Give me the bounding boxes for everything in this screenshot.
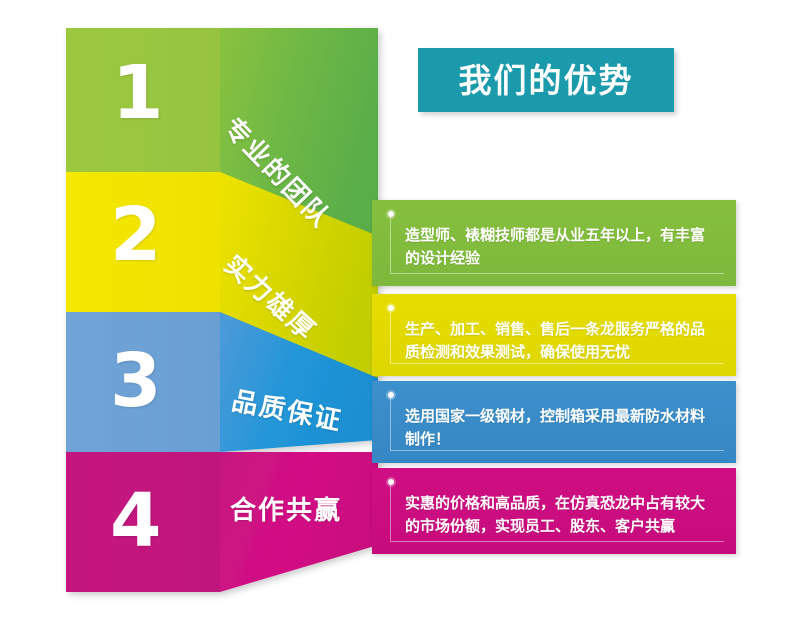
description-panel-4: 实惠的价格和高品质，在仿真恐龙中占有较大的市场份额，实现员工、股东、客户共赢: [372, 468, 736, 554]
description-text-1: 造型师、裱糊技师都是从业五年以上，有丰富的设计经验: [405, 224, 718, 271]
description-text-2: 生产、加工、销售、售后一条龙服务严格的品质检测和效果测试，确保使用无忧: [405, 318, 718, 365]
description-panel-2: 生产、加工、销售、售后一条龙服务严格的品质检测和效果测试，确保使用无忧: [372, 294, 736, 376]
infographic-canvas: 我们的优势: [0, 0, 800, 622]
panel-frame-4: 实惠的价格和高品质，在仿真恐龙中占有较大的市场份额，实现员工、股东、客户共赢: [390, 482, 724, 542]
panel-frame-3: 选用国家一级钢材，控制箱采用最新防水材料制作！: [390, 395, 724, 451]
description-panel-3: 选用国家一级钢材，控制箱采用最新防水材料制作！: [372, 381, 736, 463]
panel-frame-1: 造型师、裱糊技师都是从业五年以上，有丰富的设计经验: [390, 214, 724, 274]
panel-frame-2: 生产、加工、销售、售后一条龙服务严格的品质检测和效果测试，确保使用无忧: [390, 308, 724, 364]
bullet-dot-icon: [388, 305, 394, 311]
bullet-dot-icon: [388, 479, 394, 485]
description-panel-1: 造型师、裱糊技师都是从业五年以上，有丰富的设计经验: [372, 200, 736, 286]
bullet-dot-icon: [388, 211, 394, 217]
bullet-dot-icon: [388, 392, 394, 398]
description-text-3: 选用国家一级钢材，控制箱采用最新防水材料制作！: [405, 405, 718, 452]
description-text-4: 实惠的价格和高品质，在仿真恐龙中占有较大的市场份额，实现员工、股东、客户共赢: [405, 492, 718, 539]
